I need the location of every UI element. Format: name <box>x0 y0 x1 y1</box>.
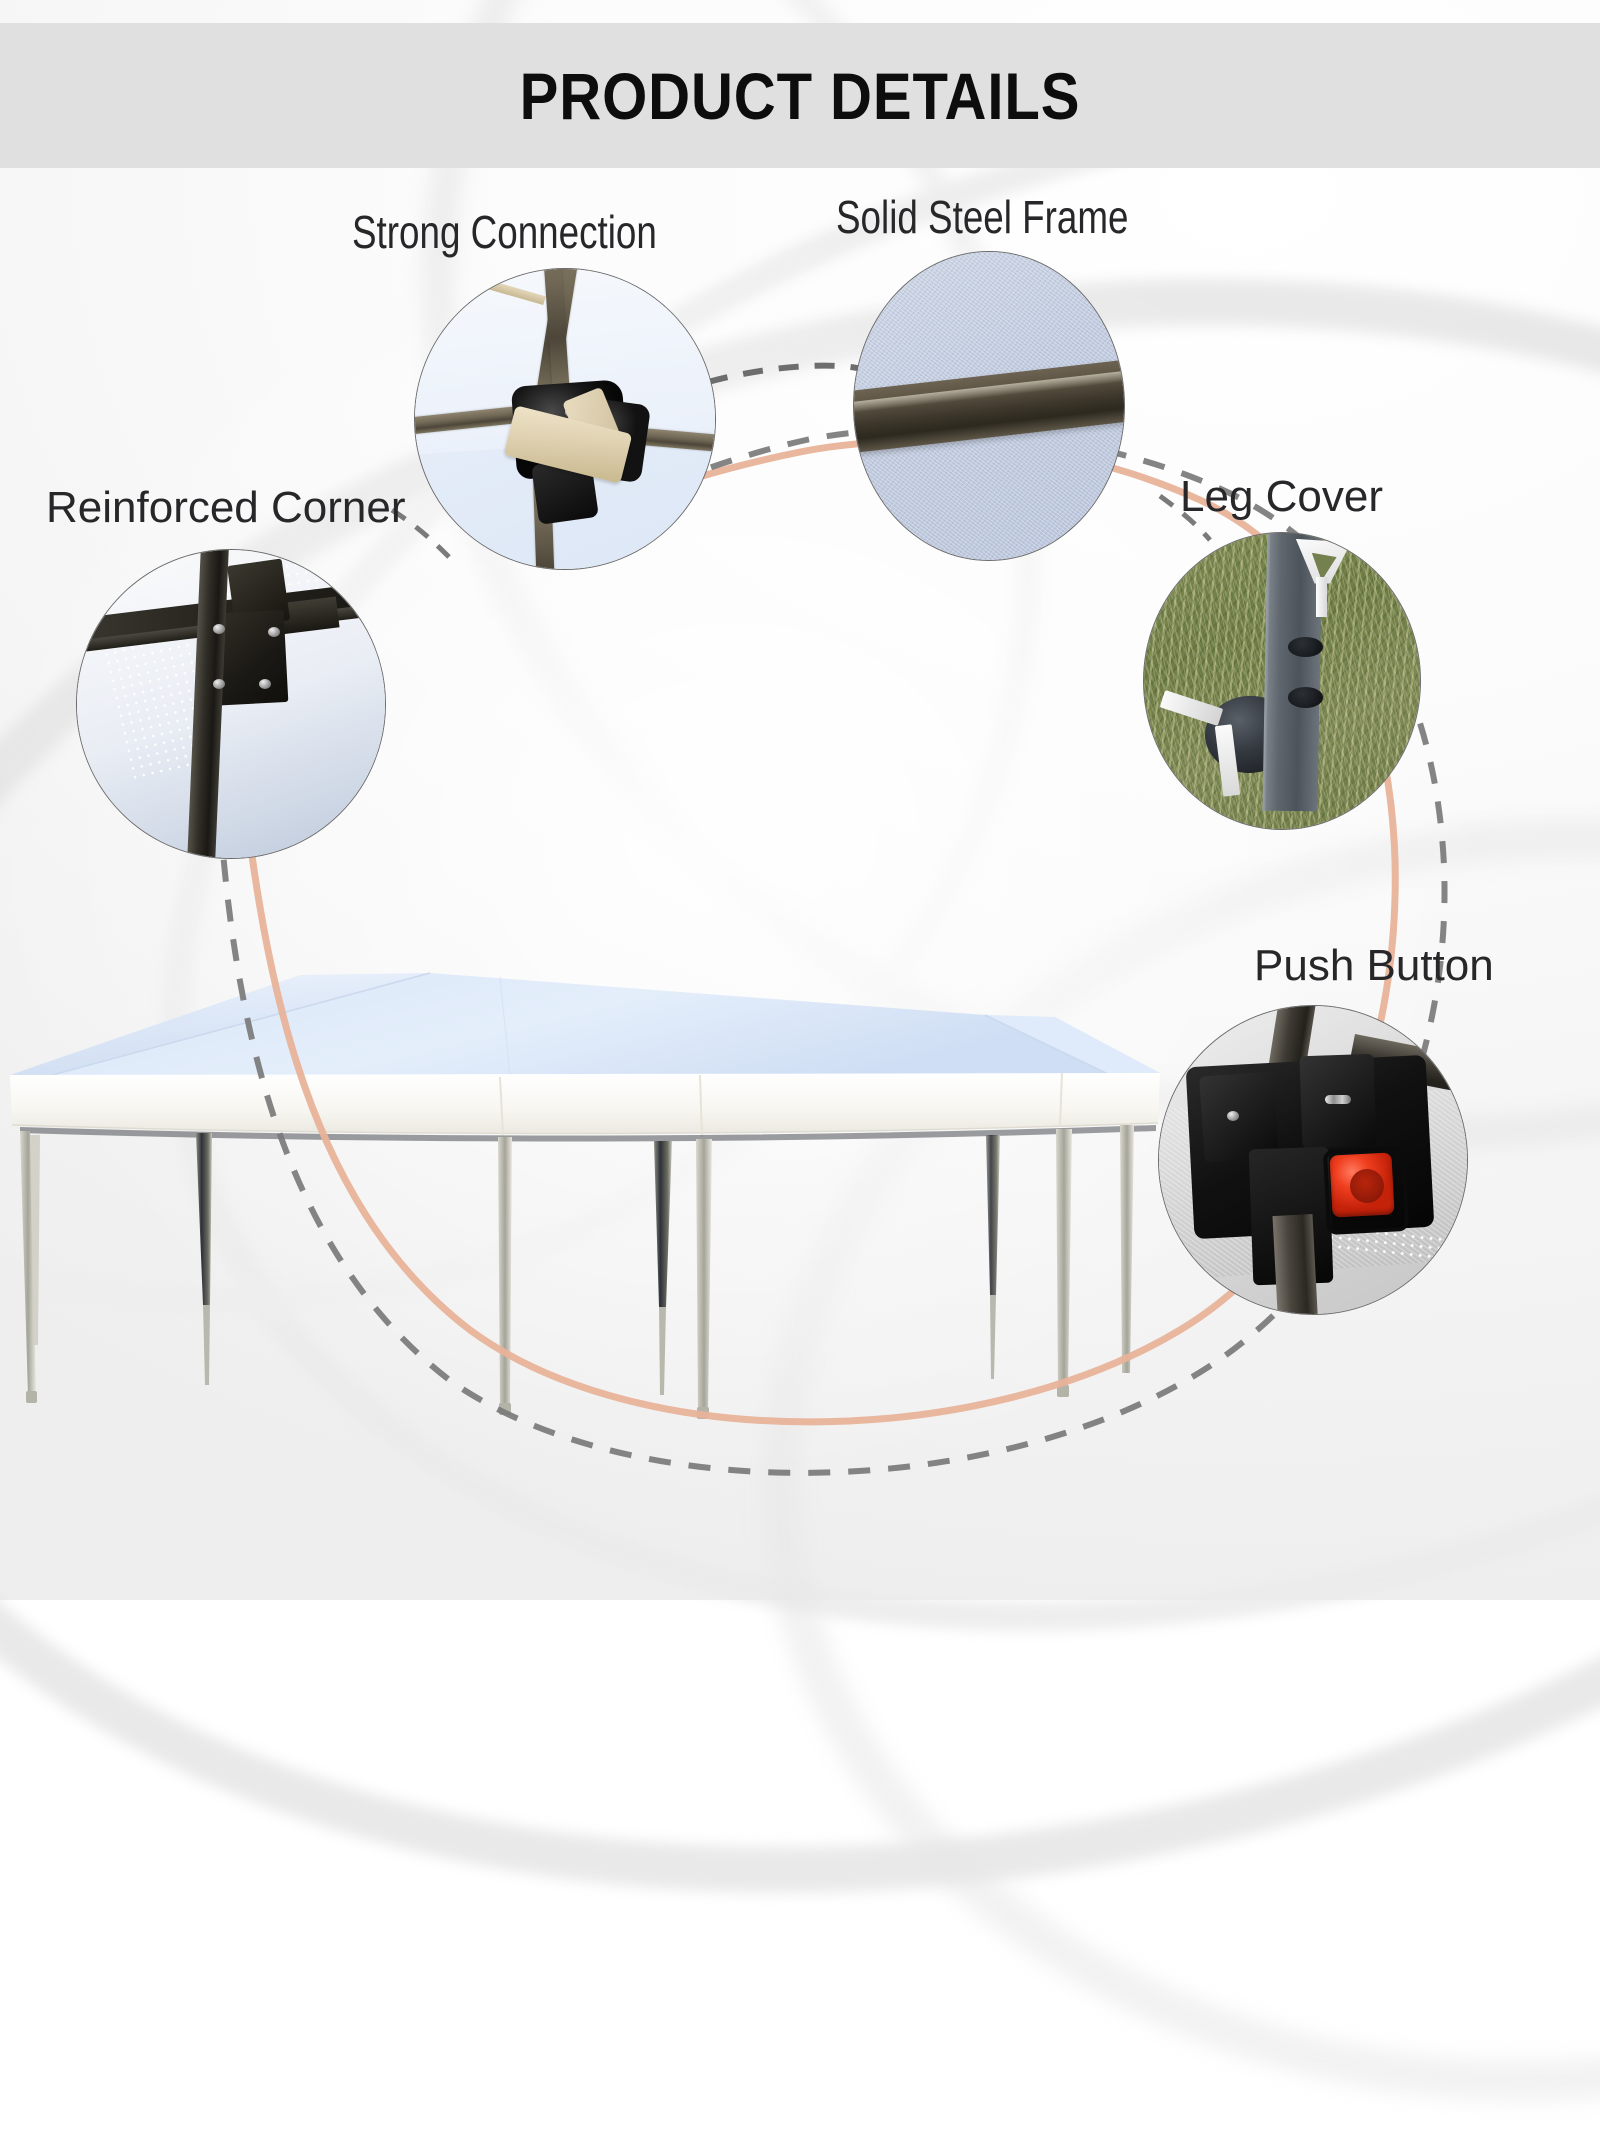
label-reinforced-corner: Reinforced Corner <box>46 483 406 533</box>
dash-link-strong-to-steel <box>708 366 868 382</box>
label-strong-connection: Strong Connection <box>352 205 657 259</box>
label-leg-cover: Leg Cover <box>1180 472 1383 522</box>
callout-circle-strong-connection[interactable] <box>414 268 716 570</box>
callout-circle-push-button[interactable] <box>1158 1005 1468 1315</box>
label-solid-steel-frame: Solid Steel Frame <box>836 190 1128 244</box>
callout-circle-reinforced-corner[interactable] <box>76 549 386 859</box>
infographic-canvas: PRODUCT DETAILS <box>0 0 1600 1600</box>
callout-circle-solid-steel-frame[interactable] <box>853 251 1125 561</box>
label-push-button: Push Button <box>1254 941 1494 991</box>
callout-circle-leg-cover[interactable] <box>1143 532 1421 830</box>
